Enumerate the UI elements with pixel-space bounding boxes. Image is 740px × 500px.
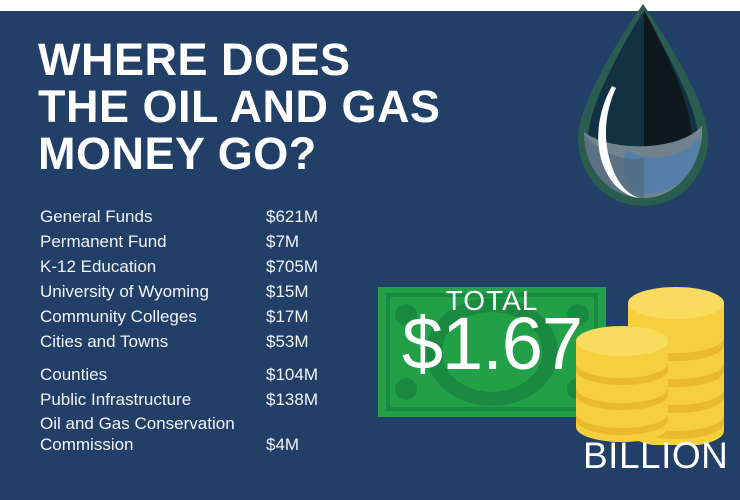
fund-value: $138M (266, 387, 318, 412)
fund-label: Oil and Gas Conservation Commission (40, 413, 235, 455)
fund-label: Cities and Towns (40, 329, 168, 354)
oil-drop-icon (568, 0, 718, 212)
fund-label: K-12 Education (40, 254, 156, 279)
fund-row: Public Infrastructure$138M (40, 387, 370, 412)
fund-value: $17M (266, 304, 309, 329)
fund-row: Community Colleges$17M (40, 304, 370, 329)
money-graphic: TOTAL $1.67 (370, 255, 740, 445)
fund-value: $7M (266, 229, 299, 254)
page-title: WHERE DOES THE OIL AND GAS MONEY GO? (38, 36, 558, 177)
fund-value: $4M (266, 432, 299, 457)
fund-value: $15M (266, 279, 309, 304)
fund-label: Counties (40, 362, 107, 387)
infographic-canvas: WHERE DOES THE OIL AND GAS MONEY GO? Gen… (0, 0, 740, 500)
fund-row: University of Wyoming$15M (40, 279, 370, 304)
fund-row: Cities and Towns$53M (40, 329, 370, 354)
fund-row: Counties$104M (40, 362, 370, 387)
fund-label: Permanent Fund (40, 229, 167, 254)
fund-value: $705M (266, 254, 318, 279)
fund-label: Community Colleges (40, 304, 197, 329)
billion-unit-label: BILLION (583, 436, 728, 476)
total-amount: $1.67 (374, 305, 610, 383)
fund-row: K-12 Education$705M (40, 254, 370, 279)
fund-label: University of Wyoming (40, 279, 209, 304)
fund-value: $104M (266, 362, 318, 387)
fund-value: $53M (266, 329, 309, 354)
fund-label: General Funds (40, 204, 152, 229)
fund-label: Public Infrastructure (40, 387, 191, 412)
fund-value: $621M (266, 204, 318, 229)
fund-row: Oil and Gas Conservation Commission$4M (40, 412, 370, 456)
fund-row: General Funds$621M (40, 204, 370, 229)
fund-allocation-list: General Funds$621MPermanent Fund$7MK-12 … (40, 204, 370, 456)
fund-row: Permanent Fund$7M (40, 229, 370, 254)
